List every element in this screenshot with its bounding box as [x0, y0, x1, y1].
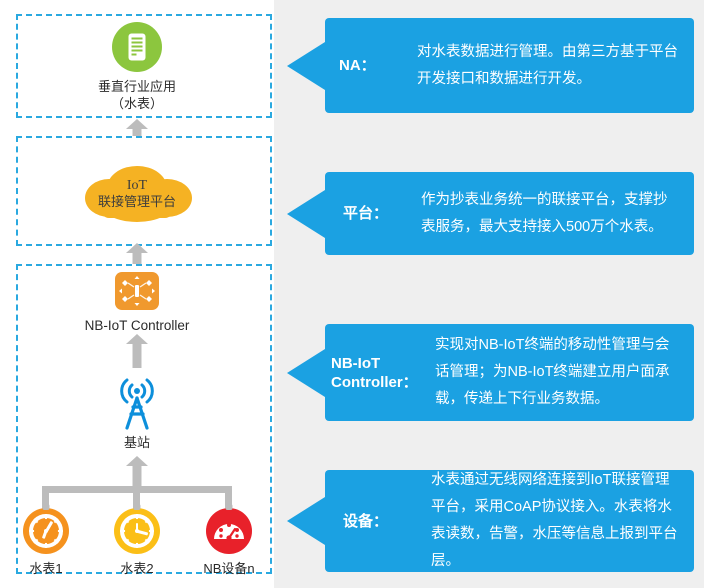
node-vertical-application: 垂直行业应用 （水表） — [77, 22, 197, 112]
callout-title-nb-iot-controller: NB-IoT Controller： — [325, 354, 435, 392]
nb-device-gauge-icon — [206, 508, 252, 554]
water-meter-icon — [23, 508, 69, 554]
node-label-base-station: 基站 — [77, 434, 197, 451]
device-label-nb-device-n: NB设备n — [169, 560, 289, 577]
arrow-devices-to-basestation — [126, 456, 148, 488]
nb-iot-controller-icon — [115, 272, 159, 310]
node-nb-iot-controller: NB-IoT Controller — [77, 272, 197, 334]
callout-nb-iot-controller: NB-IoT Controller： 实现对NB-IoT终端的移动性管理与会话管… — [325, 324, 694, 421]
callout-title-device: 设备： — [325, 512, 431, 531]
architecture-panel: 垂直行业应用 （水表） IoT 联接管理平台 — [0, 0, 274, 588]
callout-title-platform: 平台： — [325, 204, 421, 223]
callout-arrow-icon — [287, 190, 325, 238]
node-label-platform-line2: 联接管理平台 — [71, 194, 203, 210]
node-label-application-line1: 垂直行业应用 — [77, 78, 197, 95]
base-station-antenna-icon — [107, 372, 167, 436]
node-base-station: 基站 — [77, 372, 197, 451]
callout-arrow-icon — [287, 497, 325, 545]
node-label-platform-line1: IoT — [71, 178, 203, 194]
callout-platform: 平台： 作为抄表业务统一的联接平台，支撑抄表服务，最大支持接入500万个水表。 — [325, 172, 694, 255]
node-iot-platform: IoT 联接管理平台 — [77, 162, 197, 226]
application-document-icon — [112, 22, 162, 72]
device-nb-device-n: NB设备n — [169, 508, 289, 577]
callout-title-na: NA： — [325, 56, 417, 75]
cloud-icon: IoT 联接管理平台 — [71, 162, 203, 226]
callout-arrow-icon — [287, 42, 325, 90]
arrow-basestation-to-controller — [126, 334, 148, 368]
callout-arrow-icon — [287, 349, 325, 397]
node-label-application-line2: （水表） — [77, 95, 197, 112]
callout-device: 设备： 水表通过无线网络连接到IoT联接管理平台，采用CoAP协议接入。水表将水… — [325, 470, 694, 572]
node-label-nb-iot-controller: NB-IoT Controller — [77, 317, 197, 334]
callout-na: NA： 对水表数据进行管理。由第三方基于平台开发接口和数据进行开发。 — [325, 18, 694, 113]
callout-body-na: 对水表数据进行管理。由第三方基于平台开发接口和数据进行开发。 — [417, 39, 680, 93]
callout-body-device: 水表通过无线网络连接到IoT联接管理平台，采用CoAP协议接入。水表将水表读数，… — [431, 467, 680, 575]
callout-body-nb-iot-controller: 实现对NB-IoT终端的移动性管理与会话管理；为NB-IoT终端建立用户面承载，… — [435, 332, 680, 413]
water-meter-icon — [114, 508, 160, 554]
callout-body-platform: 作为抄表业务统一的联接平台，支撑抄表服务，最大支持接入500万个水表。 — [421, 187, 680, 241]
